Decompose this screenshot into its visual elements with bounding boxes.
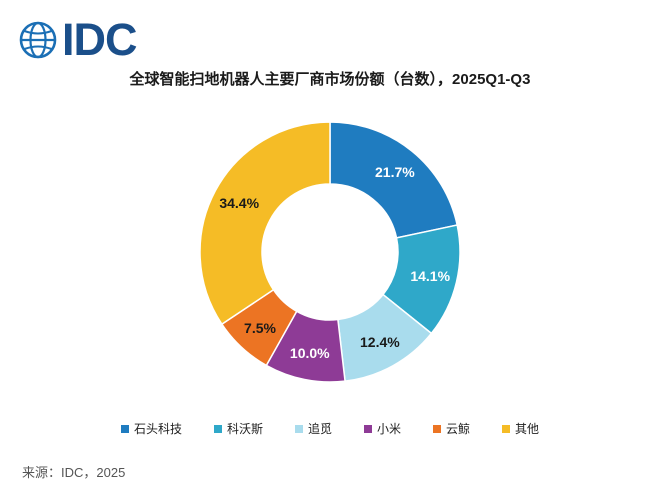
legend-item[interactable]: 追觅 (295, 420, 332, 437)
slice-label: 14.1% (410, 268, 450, 284)
legend-swatch (214, 425, 222, 433)
legend-label: 小米 (377, 420, 401, 437)
chart-title: 全球智能扫地机器人主要厂商市场份额（台数），2025Q1-Q3 (0, 68, 660, 89)
legend-swatch (364, 425, 372, 433)
chart-page: IDC 全球智能扫地机器人主要厂商市场份额（台数），2025Q1-Q3 21.7… (0, 0, 660, 492)
legend-label: 其他 (515, 420, 539, 437)
idc-logo: IDC (18, 16, 137, 64)
slice-label: 7.5% (244, 320, 276, 336)
pie-slice (200, 122, 330, 324)
legend-swatch (502, 425, 510, 433)
legend-swatch (121, 425, 129, 433)
source-note: 来源：IDC，2025 (22, 462, 125, 481)
legend-label: 科沃斯 (227, 420, 263, 437)
legend-item[interactable]: 小米 (364, 420, 401, 437)
legend-item[interactable]: 石头科技 (121, 420, 182, 437)
legend-label: 云鲸 (446, 420, 470, 437)
chart-legend: 石头科技科沃斯追觅小米云鲸其他 (0, 420, 660, 437)
logo-text: IDC (62, 20, 137, 60)
globe-icon (18, 20, 58, 60)
legend-swatch (295, 425, 303, 433)
slice-label: 12.4% (360, 334, 400, 350)
legend-label: 石头科技 (134, 420, 182, 437)
legend-item[interactable]: 其他 (502, 420, 539, 437)
legend-item[interactable]: 科沃斯 (214, 420, 263, 437)
slice-label: 10.0% (290, 345, 330, 361)
legend-item[interactable]: 云鲸 (433, 420, 470, 437)
donut-svg (180, 102, 480, 402)
slice-label: 34.4% (219, 195, 259, 211)
donut-chart: 21.7%14.1%12.4%10.0%7.5%34.4% (180, 102, 480, 402)
legend-label: 追觅 (308, 420, 332, 437)
legend-swatch (433, 425, 441, 433)
slice-label: 21.7% (375, 164, 415, 180)
